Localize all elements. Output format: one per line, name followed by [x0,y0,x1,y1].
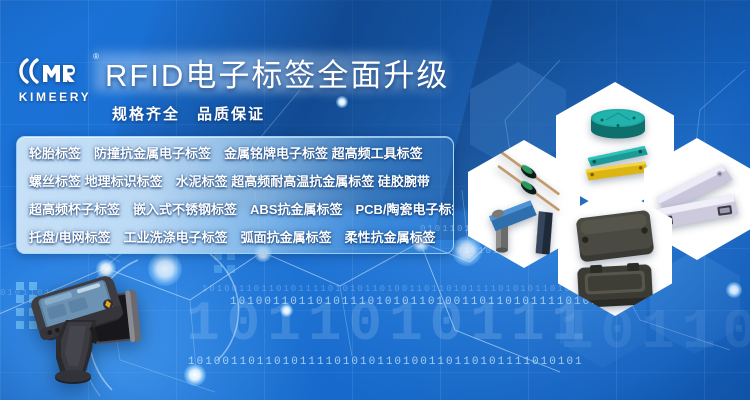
banner-canvas: 1011010111 10100110110101110101011010011… [0,0,750,400]
vignette-overlay [0,0,750,400]
